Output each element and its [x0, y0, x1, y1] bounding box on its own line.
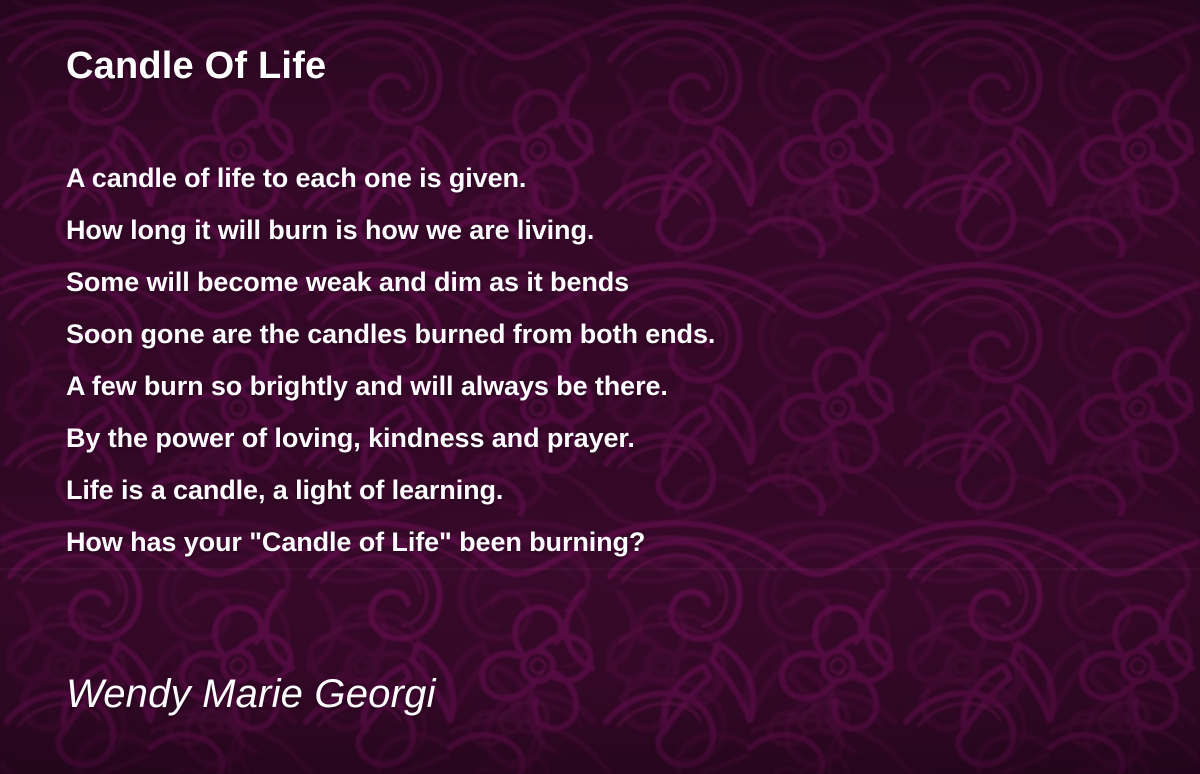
poem-line: Some will become weak and dim as it bend… — [66, 256, 715, 308]
poem-line: A few burn so brightly and will always b… — [66, 360, 715, 412]
poem-line: Soon gone are the candles burned from bo… — [66, 308, 715, 360]
poem-content: Candle Of Life A candle of life to each … — [0, 0, 1200, 774]
poem-card: Candle Of Life A candle of life to each … — [0, 0, 1200, 774]
poem-line: A candle of life to each one is given. — [66, 152, 715, 204]
page-title: Candle Of Life — [66, 45, 326, 88]
poem-author: Wendy Marie Georgi — [66, 672, 436, 717]
poem-line: Life is a candle, a light of learning. — [66, 464, 715, 516]
poem-text-block: A candle of life to each one is given. H… — [66, 152, 715, 568]
poem-line: How long it will burn is how we are livi… — [66, 204, 715, 256]
poem-line: How has your "Candle of Life" been burni… — [66, 516, 715, 568]
poem-line: By the power of loving, kindness and pra… — [66, 412, 715, 464]
